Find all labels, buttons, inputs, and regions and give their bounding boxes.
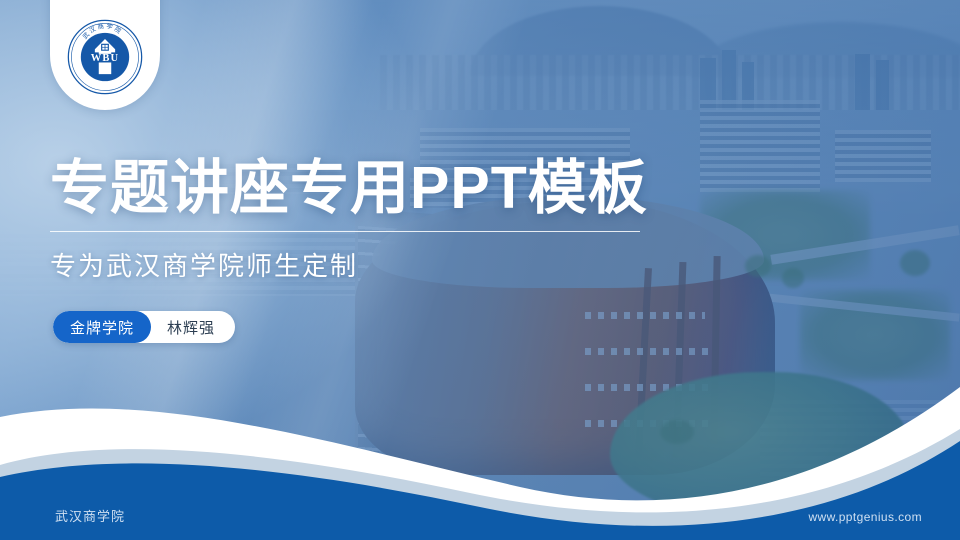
pill-category-label: 金牌学院 xyxy=(53,311,151,343)
pill-author-label: 林辉强 xyxy=(151,311,235,343)
page-title: 专题讲座专用PPT模板 xyxy=(50,158,648,220)
university-logo-icon: WBU 武汉商学院 WUHAN BUSINESS UNIVERSITY xyxy=(66,18,144,96)
credit-pill[interactable]: 金牌学院 林辉强 xyxy=(53,311,235,343)
presentation-slide: WBU 武汉商学院 WUHAN BUSINESS UNIVERSITY 专题讲座… xyxy=(0,0,960,540)
title-divider xyxy=(50,231,640,232)
svg-text:WBU: WBU xyxy=(91,53,119,64)
logo-badge: WBU 武汉商学院 WUHAN BUSINESS UNIVERSITY xyxy=(50,0,160,110)
page-subtitle: 专为武汉商学院师生定制 xyxy=(50,246,358,283)
footer-website-url[interactable]: www.pptgenius.com xyxy=(808,510,922,524)
footer-institution-name: 武汉商学院 xyxy=(55,506,125,525)
